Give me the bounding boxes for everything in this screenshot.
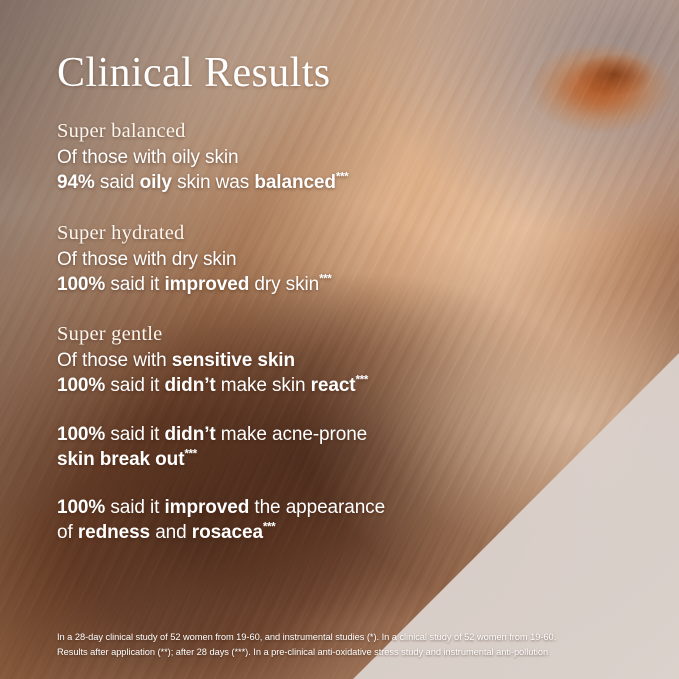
- claim-block: Super balancedOf those with oily skin94%…: [57, 118, 527, 196]
- claim-text: of: [57, 522, 78, 543]
- claim-emphasis: 100%: [57, 274, 105, 295]
- claim-line: skin break out***: [57, 448, 527, 473]
- claim-emphasis: balanced: [254, 172, 336, 193]
- claim-heading: Super hydrated: [57, 220, 527, 246]
- claim-line: Of those with sensitive skin: [57, 349, 527, 374]
- footnote-marker: ***: [336, 171, 348, 184]
- claim-line: 100% said it didn’t make skin react***: [57, 374, 527, 399]
- claim-text: make acne-prone: [216, 424, 368, 445]
- footnote-marker: ***: [319, 272, 331, 285]
- claim-emphasis: react: [311, 375, 356, 396]
- claim-line: Of those with oily skin: [57, 146, 527, 171]
- claim-text: and: [150, 522, 192, 543]
- claim-block: 100% said it didn’t make acne-proneskin …: [57, 423, 527, 472]
- claim-line: 100% said it improved the appearance: [57, 496, 527, 521]
- claim-emphasis: 100%: [57, 424, 105, 445]
- claim-line: Of those with dry skin: [57, 248, 527, 273]
- claim-emphasis: 100%: [57, 375, 105, 396]
- claim-text: the appearance: [249, 497, 385, 518]
- claim-emphasis: redness: [78, 522, 150, 543]
- claim-line: 94% said oily skin was balanced***: [57, 171, 527, 196]
- claim-text: said: [95, 172, 140, 193]
- claim-block: 100% said it improved the appearanceof r…: [57, 496, 527, 545]
- claim-text: dry skin: [249, 274, 319, 295]
- footnote: In a 28-day clinical study of 52 women f…: [57, 630, 641, 659]
- claim-text: said it: [105, 424, 164, 445]
- footnote-marker: ***: [356, 374, 368, 387]
- claim-emphasis: improved: [165, 497, 250, 518]
- claim-block: Super hydratedOf those with dry skin100%…: [57, 220, 527, 298]
- claim-emphasis: sensitive skin: [172, 350, 295, 371]
- claim-emphasis: improved: [165, 274, 250, 295]
- claim-emphasis: oily: [140, 172, 172, 193]
- claim-line: 100% said it didn’t make acne-prone: [57, 423, 527, 448]
- claim-line: of redness and rosacea***: [57, 521, 527, 546]
- footnote-line-1: In a 28-day clinical study of 52 women f…: [57, 630, 641, 644]
- claim-block: Super gentleOf those with sensitive skin…: [57, 321, 527, 399]
- claim-emphasis: rosacea: [192, 522, 263, 543]
- claim-text: said it: [105, 497, 164, 518]
- claim-text: Of those with oily skin: [57, 147, 238, 168]
- claim-text: skin was: [172, 172, 254, 193]
- claim-emphasis: didn’t: [165, 375, 216, 396]
- claim-text: said it: [105, 274, 164, 295]
- claim-emphasis: didn’t: [165, 424, 216, 445]
- claim-text: said it: [105, 375, 164, 396]
- claim-heading: Super balanced: [57, 118, 527, 144]
- content-area: Clinical Results Super balancedOf those …: [0, 0, 679, 679]
- footnote-line-2: Results after application (**); after 28…: [57, 645, 641, 659]
- claim-text: Of those with dry skin: [57, 249, 236, 270]
- claim-emphasis: 94%: [57, 172, 95, 193]
- page-title: Clinical Results: [57, 51, 331, 95]
- claim-line: 100% said it improved dry skin***: [57, 273, 527, 298]
- claims-list: Super balancedOf those with oily skin94%…: [57, 118, 527, 546]
- footnote-marker: ***: [184, 447, 196, 460]
- claim-text: make skin: [216, 375, 311, 396]
- claim-emphasis: 100%: [57, 497, 105, 518]
- claim-heading: Super gentle: [57, 321, 527, 347]
- claim-emphasis: skin break out: [57, 449, 184, 470]
- footnote-marker: ***: [263, 521, 275, 534]
- claim-text: Of those with: [57, 350, 172, 371]
- clinical-results-card: Clinical Results Super balancedOf those …: [0, 0, 679, 679]
